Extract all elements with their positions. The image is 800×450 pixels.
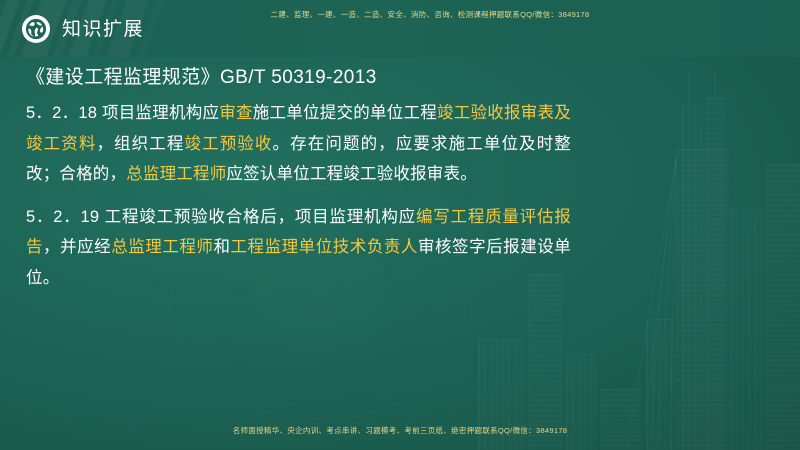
highlighted-term: 竣工预验收	[184, 135, 272, 153]
promo-banner-bottom: 名师面授精华、央企内训、考点串讲、习题模考、考前三页纸、绝密押题联系QQ/微信：…	[0, 425, 800, 436]
clause-paragraph-2: 5．2．19 工程竣工预验收合格后，项目监理机构应编写工程质量评估报告，并应经总…	[26, 202, 571, 294]
body-text: ，并应经	[43, 238, 111, 256]
body-text: ，组织工程	[96, 135, 184, 153]
body-text: 和	[213, 238, 230, 256]
slide-content: 《建设工程监理规范》GB/T 50319-2013 5．2．18 项目监理机构应…	[26, 62, 626, 293]
document-title: 《建设工程监理规范》GB/T 50319-2013	[26, 62, 626, 89]
promo-banner-top: 二建、监理、一建、一造、二造、安全、消防、咨询、检测课程押题联系QQ/微信：38…	[0, 9, 800, 20]
clause-paragraph-1: 5．2．18 项目监理机构应审查施工单位提交的单位工程竣工验收报审表及竣工资料，…	[26, 98, 571, 190]
body-text: 应签认单位工程竣工验收报审表。	[226, 165, 477, 183]
highlighted-term: 工程监理单位技术负责人	[231, 238, 418, 256]
highlighted-term: 审查	[219, 104, 253, 122]
body-text: 工程竣工预验收合格后，项目监理机构应	[99, 208, 416, 226]
body-text: 项目监理机构应	[97, 104, 219, 122]
highlighted-term: 总监理工程师	[111, 238, 213, 256]
clause-number: 5．2．19	[26, 208, 99, 226]
slide-canvas: 知识扩展 二建、监理、一建、一造、二造、安全、消防、咨询、检测课程押题联系QQ/…	[0, 0, 800, 450]
clause-number: 5．2．18	[26, 104, 97, 122]
highlighted-term: 总监理工程师	[126, 165, 226, 183]
body-text: 施工单位提交的单位工程	[253, 104, 437, 122]
